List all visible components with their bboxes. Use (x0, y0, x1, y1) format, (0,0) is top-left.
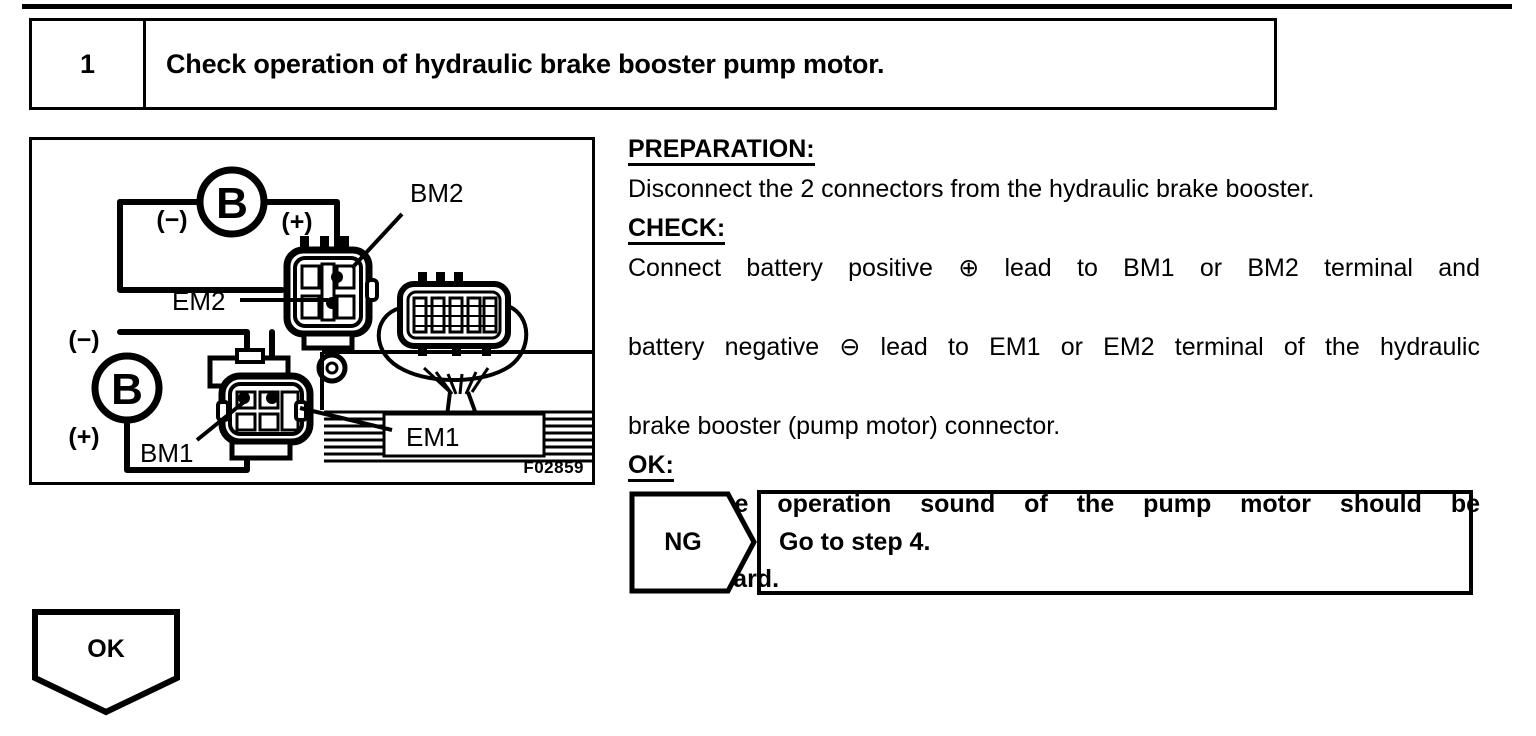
battery-symbol-lower: B (95, 356, 159, 420)
upper-negative-label: (−) (156, 206, 187, 234)
step-header-box: 1 Check operation of hydraulic brake boo… (29, 18, 1277, 110)
label-bm2: BM2 (410, 178, 463, 208)
preparation-section: PREPARATION: Disconnect the 2 connectors… (628, 130, 1480, 209)
svg-text:B: B (216, 179, 248, 228)
probe-point-bm2 (331, 271, 343, 283)
page-top-rule (22, 4, 1512, 9)
svg-text:B: B (111, 365, 143, 414)
check-line-3: brake booster (pump motor) connector. (628, 412, 1060, 440)
lower-negative-label: (−) (68, 326, 99, 354)
preparation-text: Disconnect the 2 connectors from the hyd… (628, 170, 1480, 210)
wiring-diagram-figure: B (−) (+) B (−) (+) (29, 137, 595, 485)
ok-pentagon-label: OK (31, 608, 181, 690)
probe-point-em1 (266, 392, 278, 404)
ng-label: NG (628, 490, 738, 595)
lower-positive-label: (+) (68, 423, 99, 451)
figure-code: F02859 (523, 458, 584, 478)
connector-lower (210, 350, 310, 458)
ok-heading: OK: (628, 451, 674, 482)
step-number: 1 (32, 21, 146, 107)
ng-flow-row: NG Go to step 4. (628, 490, 1473, 595)
check-section: CHECK: Connect battery positive ⊕ lead t… (628, 209, 1480, 446)
label-bm1: BM1 (140, 438, 193, 468)
preparation-heading: PREPARATION: (628, 135, 815, 166)
check-heading: CHECK: (628, 214, 725, 245)
label-em2: EM2 (172, 286, 225, 316)
check-line-1: Connect battery positive ⊕ lead to BM1 o… (628, 249, 1480, 328)
battery-symbol-upper: B (200, 170, 264, 234)
check-text: Connect battery positive ⊕ lead to BM1 o… (628, 249, 1480, 447)
upper-positive-label: (+) (281, 208, 312, 236)
ng-action-box[interactable]: Go to step 4. (757, 490, 1473, 595)
label-em1: EM1 (406, 422, 459, 452)
step-title: Check operation of hydraulic brake boost… (146, 21, 1274, 107)
diagram-svg: B (−) (+) B (−) (+) (32, 140, 592, 482)
check-line-2: battery negative ⊖ lead to EM1 or EM2 te… (628, 328, 1480, 407)
